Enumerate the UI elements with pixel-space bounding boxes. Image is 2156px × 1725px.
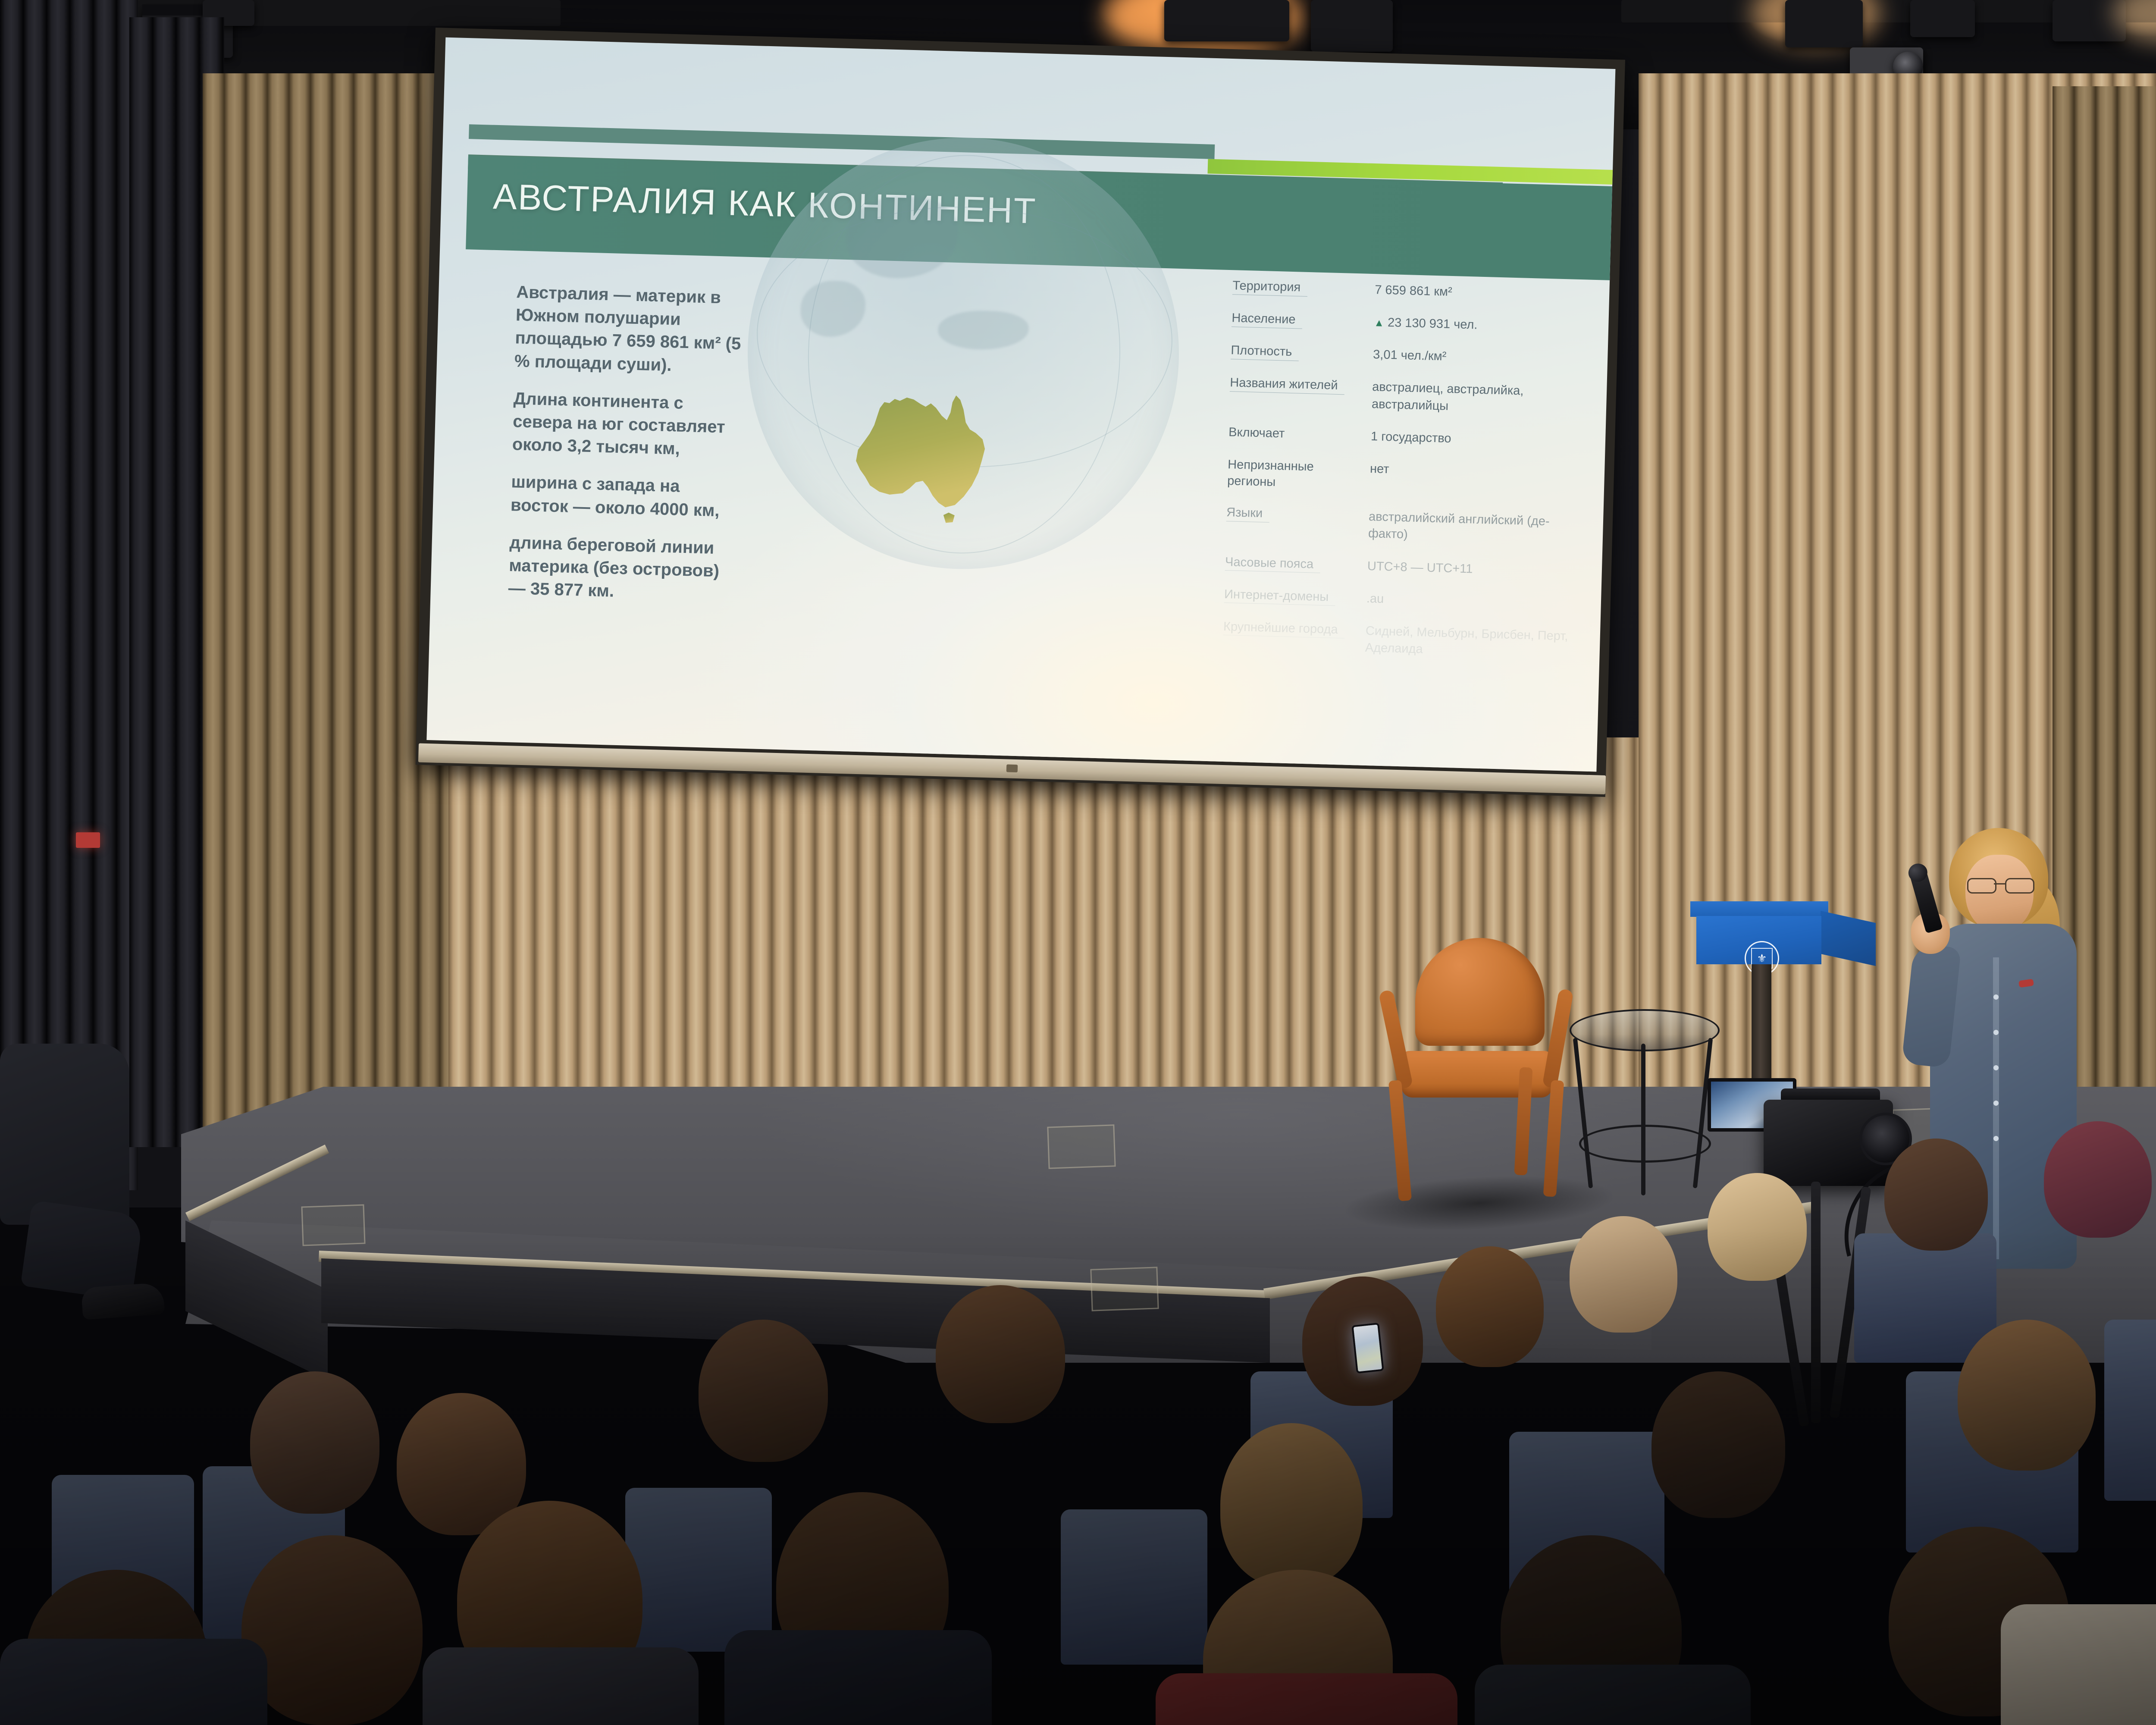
info-row-key[interactable]: Крупнейшие города xyxy=(1223,619,1345,639)
info-row-value: австралийский английский (де-факто) xyxy=(1368,508,1585,548)
info-row: Плотность3,01 чел./км² xyxy=(1231,342,1589,369)
info-row-key-wrap: Крупнейшие города xyxy=(1223,619,1366,640)
info-row: Языкиавстралийский английский (де-факто) xyxy=(1226,505,1585,548)
curtain-left-dark xyxy=(0,0,138,1190)
info-row-value: австралиец, австралийка, австралийцы xyxy=(1372,379,1588,418)
info-row-value-text: 23 130 931 чел. xyxy=(1388,316,1478,332)
chair-arm-right xyxy=(1542,988,1573,1088)
info-row: Интернет-домены.au xyxy=(1224,586,1583,613)
audience-head-8 xyxy=(250,1371,379,1514)
audience-shoulders-5 xyxy=(1475,1665,1751,1725)
info-row-key-wrap: Население xyxy=(1232,310,1374,331)
slide-paragraph-3: ширина с запада на восток — около 4000 к… xyxy=(510,470,738,523)
info-row-key[interactable]: Плотность xyxy=(1231,342,1299,361)
info-row-value: ▲23 130 931 чел. xyxy=(1374,314,1590,337)
floor-hatch-1 xyxy=(301,1204,365,1246)
floor-hatch-3 xyxy=(1090,1267,1159,1311)
audience-shoulders-2 xyxy=(423,1647,699,1725)
left-seated-person xyxy=(0,1044,147,1371)
info-row-key-wrap: Включает xyxy=(1228,424,1371,445)
table-leg-1 xyxy=(1573,1038,1593,1188)
projection-screen: АВСТРАЛИЯ КАК КОНТИНЕНТ xyxy=(416,28,1625,797)
info-row: Население▲23 130 931 чел. xyxy=(1232,310,1590,337)
stage-light-4 xyxy=(1311,0,1393,52)
info-row-key[interactable]: Названия жителей xyxy=(1230,375,1345,395)
tripod-leg-center xyxy=(1811,1182,1821,1423)
info-row-key[interactable]: Население xyxy=(1232,310,1303,329)
exit-sign xyxy=(76,832,100,848)
slide-paragraph-4: длина береговой линии материка (без остр… xyxy=(508,531,736,606)
info-row-key[interactable]: Языки xyxy=(1226,505,1270,522)
audience-head-5 xyxy=(1884,1138,1988,1251)
chair-leg-front-left xyxy=(1388,1080,1412,1201)
chair-backrest xyxy=(1415,938,1545,1046)
info-row-key-wrap: Интернет-домены xyxy=(1224,586,1367,607)
slide-canvas: АВСТРАЛИЯ КАК КОНТИНЕНТ xyxy=(426,38,1615,772)
audience-head-12 xyxy=(1220,1423,1363,1587)
info-row: Непризнанные регионынет xyxy=(1227,457,1586,499)
lectern-front-panel: ⚜ xyxy=(1696,916,1821,964)
floor-hatch-2 xyxy=(1047,1124,1116,1169)
lectern-side-panel xyxy=(1821,911,1876,966)
chair-leg-front-right xyxy=(1543,1080,1564,1197)
speaker-shirt-button-1 xyxy=(1993,994,1999,1000)
left-person-torso xyxy=(0,1044,129,1225)
slide-paragraph-2: Длина континента с севера на юг составля… xyxy=(512,387,740,462)
info-row: Крупнейшие городаСидней, Мельбурн, Брисб… xyxy=(1222,619,1581,662)
stage-light-3 xyxy=(1164,0,1289,41)
info-row: Территория7 659 861 км² xyxy=(1232,278,1591,304)
speaker-shirt-button-2 xyxy=(1993,1030,1999,1035)
auditorium-photo: АВСТРАЛИЯ КАК КОНТИНЕНТ xyxy=(0,0,2156,1725)
slide-body-copy: Австралия — материк в Южном полушарии пл… xyxy=(508,281,743,606)
armchair xyxy=(1384,938,1570,1205)
info-row: Включает1 государство xyxy=(1228,424,1587,451)
info-row-value: UTC+8 — UTC+11 xyxy=(1367,558,1583,580)
info-row-key-wrap: Языки xyxy=(1226,505,1369,525)
audience-head-13 xyxy=(1651,1371,1785,1518)
glasses-lens-left xyxy=(1967,878,1996,894)
info-row-key: Включает xyxy=(1228,425,1292,441)
speaker-glasses-icon xyxy=(1967,878,2032,891)
speaker-shirt-button-3 xyxy=(1993,1065,1999,1070)
audience-head-3 xyxy=(1570,1216,1677,1333)
stage-light-6 xyxy=(1910,0,1975,37)
audience-head-6 xyxy=(2044,1121,2152,1238)
audience-head-4 xyxy=(1708,1173,1807,1281)
theater-seat-7 xyxy=(2104,1320,2156,1501)
audience-shoulders-3 xyxy=(724,1630,992,1725)
info-row-key-wrap: Территория xyxy=(1232,278,1375,298)
audience-head-2 xyxy=(1436,1246,1544,1367)
stripe-teal-upper xyxy=(469,124,1215,159)
table-leg-2 xyxy=(1641,1044,1645,1195)
info-row-key-wrap: Часовые пояса xyxy=(1225,554,1368,574)
audience-phone-screen xyxy=(1351,1323,1384,1374)
speaker-face xyxy=(1965,855,2034,933)
country-info-table: Территория7 659 861 км²Население▲23 130 … xyxy=(1222,278,1591,677)
info-row-key-wrap: Непризнанные регионы xyxy=(1227,457,1370,493)
info-row-value: нет xyxy=(1370,461,1586,483)
info-row-key[interactable]: Территория xyxy=(1232,278,1308,296)
info-row-value: .au xyxy=(1366,590,1582,613)
audience-head-11 xyxy=(936,1285,1065,1423)
audience-shoulders-1 xyxy=(0,1639,267,1725)
info-row-key[interactable]: Интернет-домены xyxy=(1224,586,1336,606)
stage-light-5 xyxy=(1785,0,1863,47)
info-row-key: Непризнанные регионы xyxy=(1227,458,1314,489)
population-up-arrow-icon: ▲ xyxy=(1374,317,1384,329)
audience-shoulders-4 xyxy=(1156,1673,1457,1725)
info-row-value: 3,01 чел./км² xyxy=(1373,346,1589,369)
info-row: Названия жителейавстралиец, австралийка,… xyxy=(1229,375,1588,419)
info-row: Часовые поясаUTC+8 — UTC+11 xyxy=(1225,554,1583,580)
left-person-shoe xyxy=(81,1282,165,1320)
info-row-value: Сидней, Мельбурн, Брисбен, Перт, Аделаид… xyxy=(1365,623,1581,662)
audience-shoulders-6 xyxy=(2001,1604,2156,1725)
screen-roller-knob[interactable] xyxy=(1006,764,1018,772)
audience-head-14 xyxy=(1958,1320,2096,1471)
info-row-key[interactable]: Часовые пояса xyxy=(1225,554,1321,573)
slide-paragraph-1: Австралия — материк в Южном полушарии пл… xyxy=(514,281,743,379)
audience-head-10 xyxy=(699,1320,828,1462)
theater-seat-3 xyxy=(625,1488,772,1652)
info-row-key-wrap: Плотность xyxy=(1231,342,1373,363)
speaker-shirt-button-4 xyxy=(1993,1101,1999,1106)
speaker-shirt-placket xyxy=(1993,957,1999,1259)
microphone-capsule xyxy=(1906,861,1930,884)
speaker-shirt-button-5 xyxy=(1993,1136,1999,1141)
glasses-lens-right xyxy=(2005,878,2034,894)
info-row-value: 7 659 861 км² xyxy=(1375,282,1591,304)
australia-shape xyxy=(841,385,1013,531)
lectern-top-edge xyxy=(1690,901,1828,917)
info-row-key-wrap: Названия жителей xyxy=(1230,375,1373,396)
theater-seat-9 xyxy=(1854,1233,1996,1363)
theater-seat-4 xyxy=(1061,1509,1207,1665)
audience-head-16 xyxy=(241,1535,423,1725)
glasses-bridge xyxy=(1994,883,2005,884)
info-row-value: 1 государство xyxy=(1371,428,1587,451)
